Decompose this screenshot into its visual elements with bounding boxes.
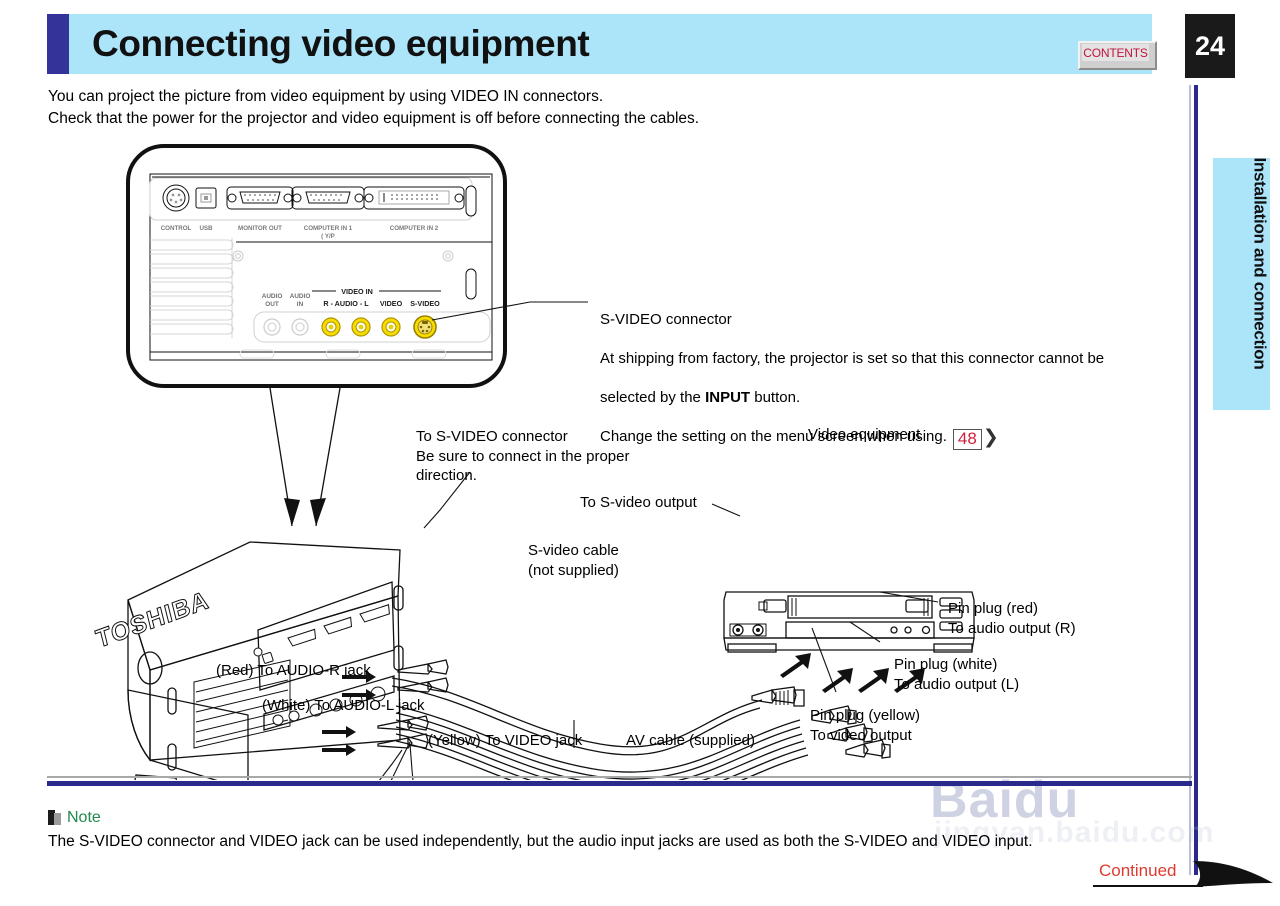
callout-pin-plug-red: Pin plug (red) To audio output (R) [948,599,1076,638]
label-computer-in-2: COMPUTER IN 2 [390,225,439,232]
note-page-icon [48,810,61,825]
label-computer-in-1-sub: ( Y/P [321,233,335,240]
note-body: The S-VIDEO connector and VIDEO jack can… [48,831,1188,853]
page-reference-value: 48 [953,429,982,450]
callout-svideo-line2c: button. [750,389,800,406]
callout-white-audio-l: (White) To AUDIO-L jack [262,696,425,716]
contents-button-label: CONTENTS [1083,46,1147,60]
callout-svideo-cable: S-video cable (not supplied) [528,541,619,580]
chevron-right-icon: ❯ [983,429,999,447]
svg-text:S-VIDEO: S-VIDEO [410,299,440,308]
page-header: Connecting video equipment [47,14,1152,74]
continued-indicator[interactable]: Continued [1085,859,1275,897]
callout-red-audio-r: (Red) To AUDIO-R jack [216,661,371,681]
svg-text:OUT: OUT [265,301,279,308]
callout-pin-plug-yellow: Pin plug (yellow) To video output [810,706,920,745]
svg-text:VIDEO IN: VIDEO IN [341,287,373,296]
brand-text: TOSHIBA [93,586,212,654]
callout-yellow-video: (Yellow) To VIDEO jack [428,731,582,751]
note-section: Note The S-VIDEO connector and VIDEO jac… [48,808,1188,853]
page-reference-48[interactable]: 48❯ [953,429,999,450]
label-monitor-out: MONITOR OUT [238,225,282,232]
continued-underline [1093,885,1203,887]
label-computer-in-1: COMPUTER IN 1 [304,225,353,232]
svg-text:AUDIO: AUDIO [262,293,283,300]
svg-text:AUDIO: AUDIO [290,293,311,300]
callout-to-svideo-connector: To S-VIDEO connector Be sure to connect … [416,427,716,486]
svg-text:IN: IN [297,301,304,308]
callout-av-cable: AV cable (supplied) [626,731,755,751]
continued-label: Continued [1099,861,1177,881]
intro-paragraph: You can project the picture from video e… [48,86,1148,130]
label-control: CONTROL [161,225,192,232]
note-label: Note [67,809,101,827]
manual-page: Connecting video equipment CONTENTS 24 I… [0,0,1280,906]
footer-rule-blue [47,781,1192,786]
header-accent-bar [47,14,69,74]
svg-text:VIDEO: VIDEO [380,299,403,308]
note-header: Note [48,808,1188,827]
callout-svideo-line2: selected by the INPUT button. [600,388,1160,408]
callout-svideo-line1: At shipping from factory, the projector … [600,349,1160,369]
section-tab[interactable]: Installation and connection [1213,158,1270,410]
callout-svideo-line2a: selected by the [600,389,705,406]
svg-text:R - AUDIO - L: R - AUDIO - L [323,299,369,308]
page-number-value: 24 [1195,31,1225,62]
page-title: Connecting video equipment [92,22,589,66]
page-number-badge: 24 [1185,14,1235,78]
callout-pin-plug-white: Pin plug (white) To audio output (L) [894,655,1019,694]
label-usb: USB [199,225,213,232]
input-button-emphasis: INPUT [705,389,750,406]
section-tab-label: Installation and connection [1213,158,1270,410]
continued-arrow-icon [1193,857,1275,896]
contents-button[interactable]: CONTENTS [1078,41,1153,66]
callout-video-equipment: Video equipment [808,425,920,445]
footer-rule-gray [47,776,1192,778]
contents-button-face: CONTENTS [1082,44,1149,61]
callout-to-svideo-output: To S-video output [580,493,697,513]
callout-svideo-title: S-VIDEO connector [600,310,1160,330]
